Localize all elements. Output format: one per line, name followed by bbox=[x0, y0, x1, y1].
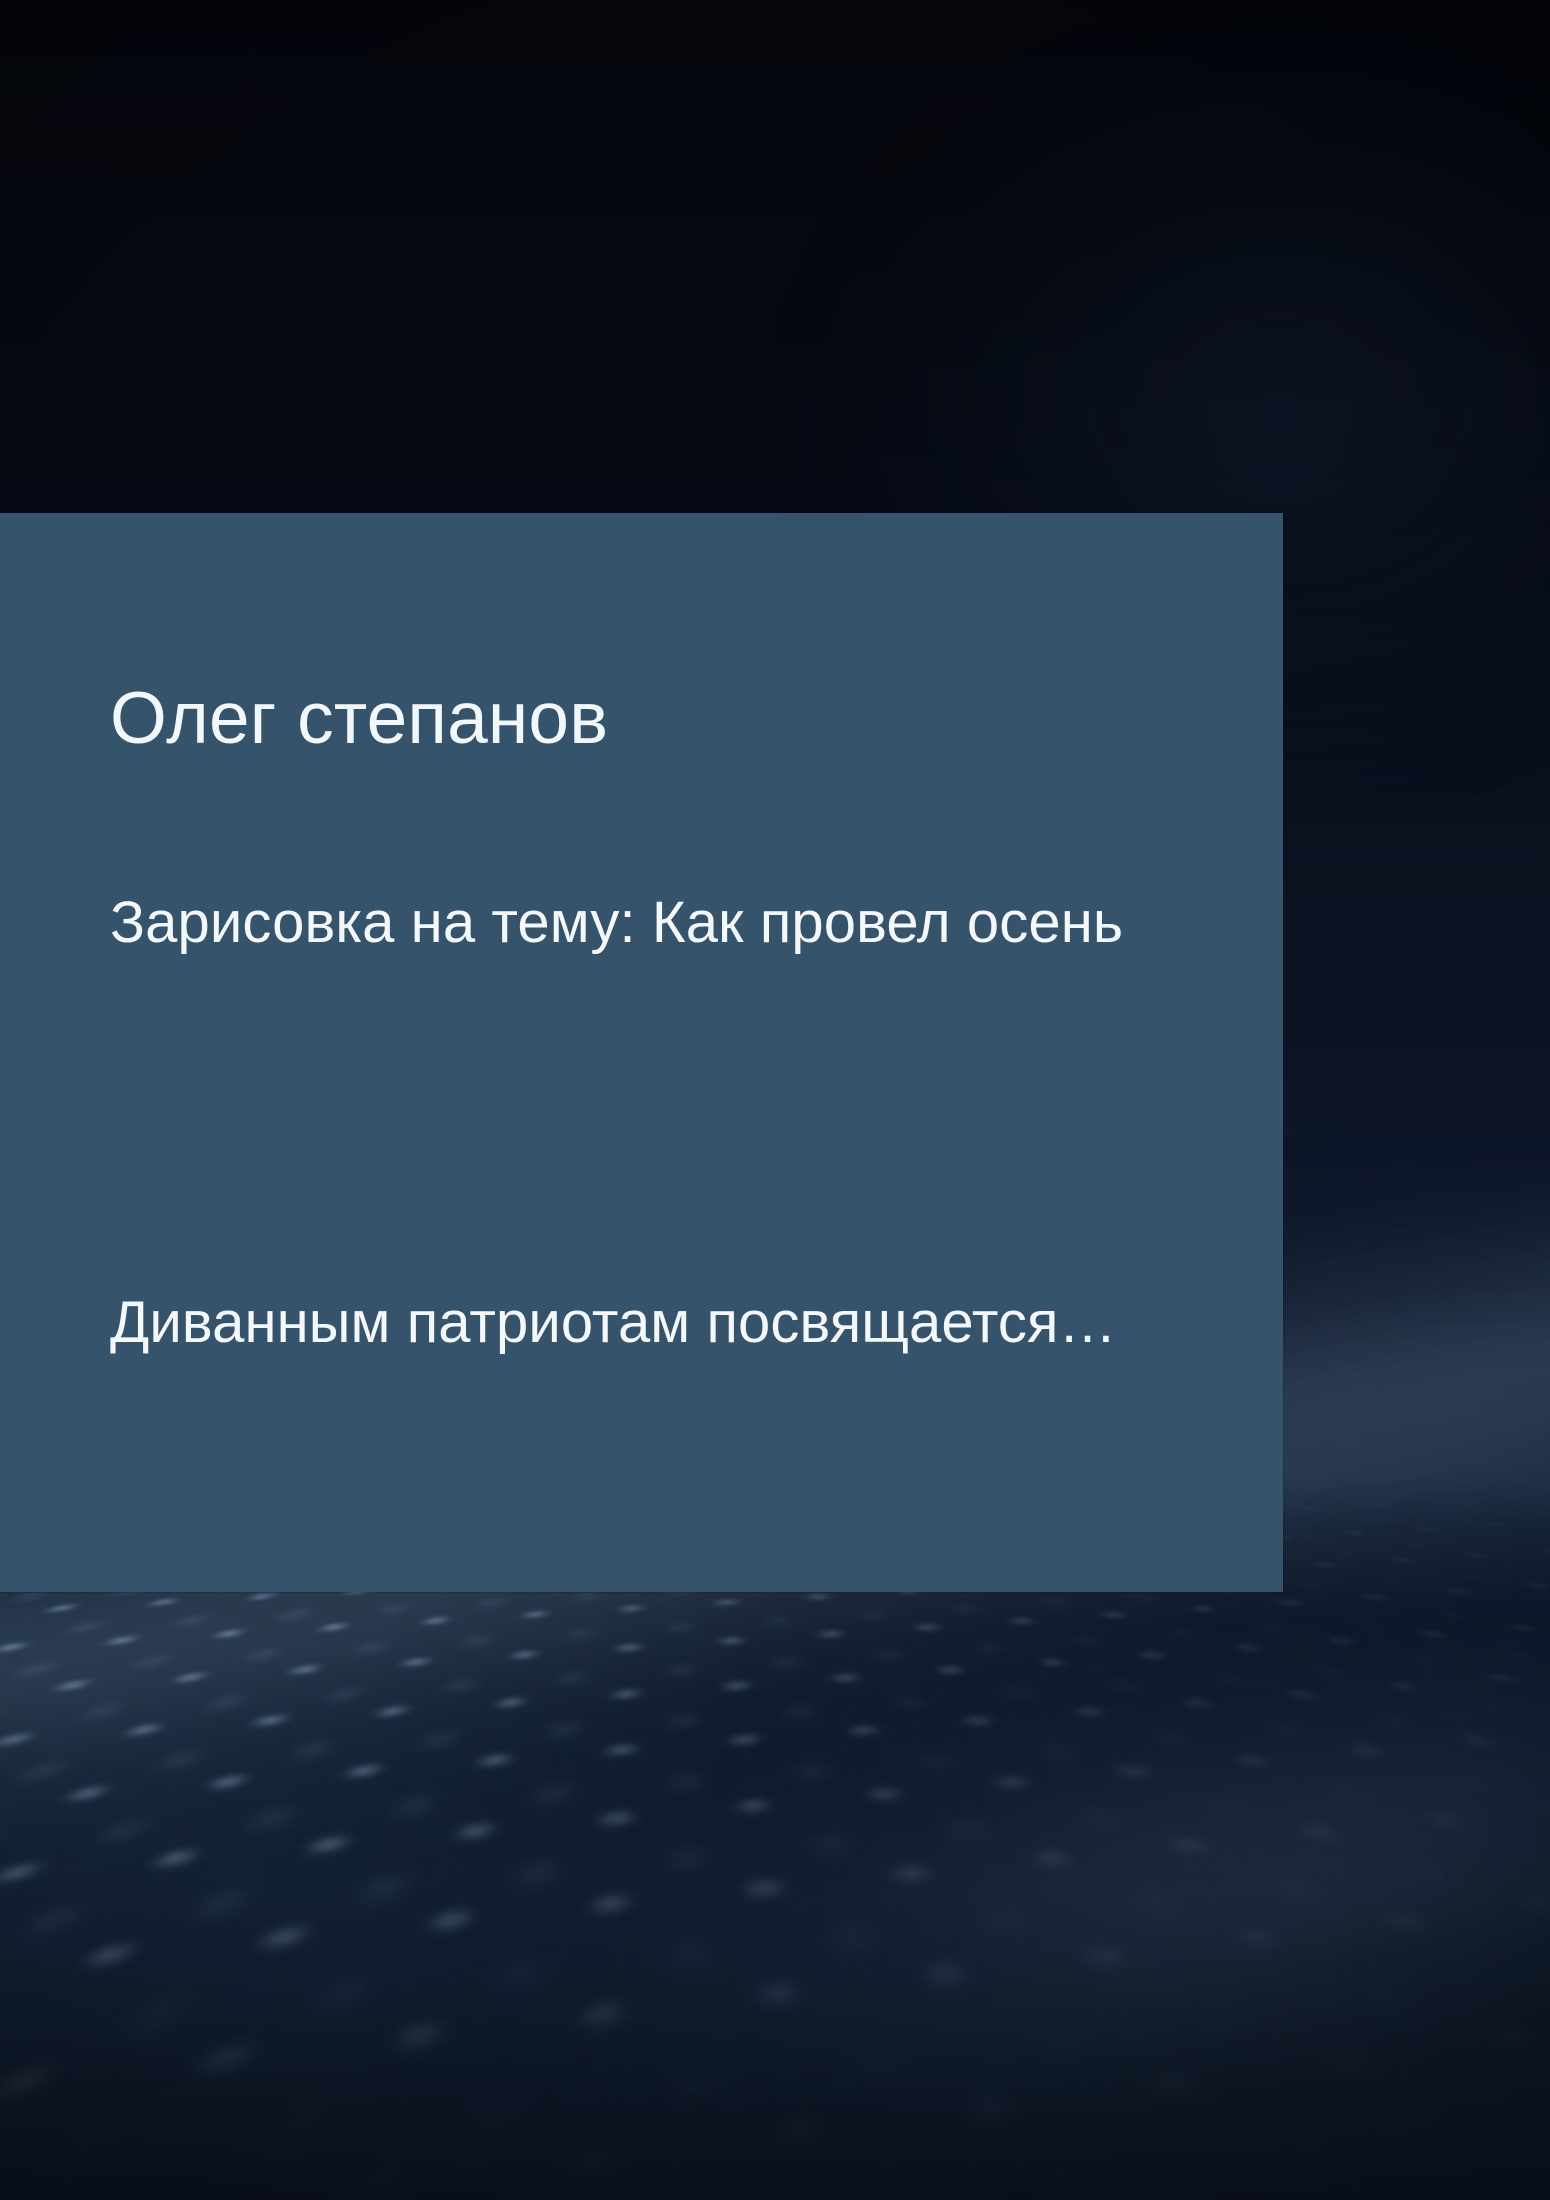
book-title: Зарисовка на тему: Как провел осень bbox=[110, 891, 1123, 955]
book-cover: Олег степанов Зарисовка на тему: Как про… bbox=[0, 0, 1550, 2200]
cover-text-panel-inner bbox=[0, 513, 1283, 1592]
cover-text-panel bbox=[0, 513, 1283, 1592]
book-tagline: Диванным патриотам посвящается… bbox=[110, 1291, 1117, 1355]
author-name: Олег степанов bbox=[110, 682, 608, 755]
